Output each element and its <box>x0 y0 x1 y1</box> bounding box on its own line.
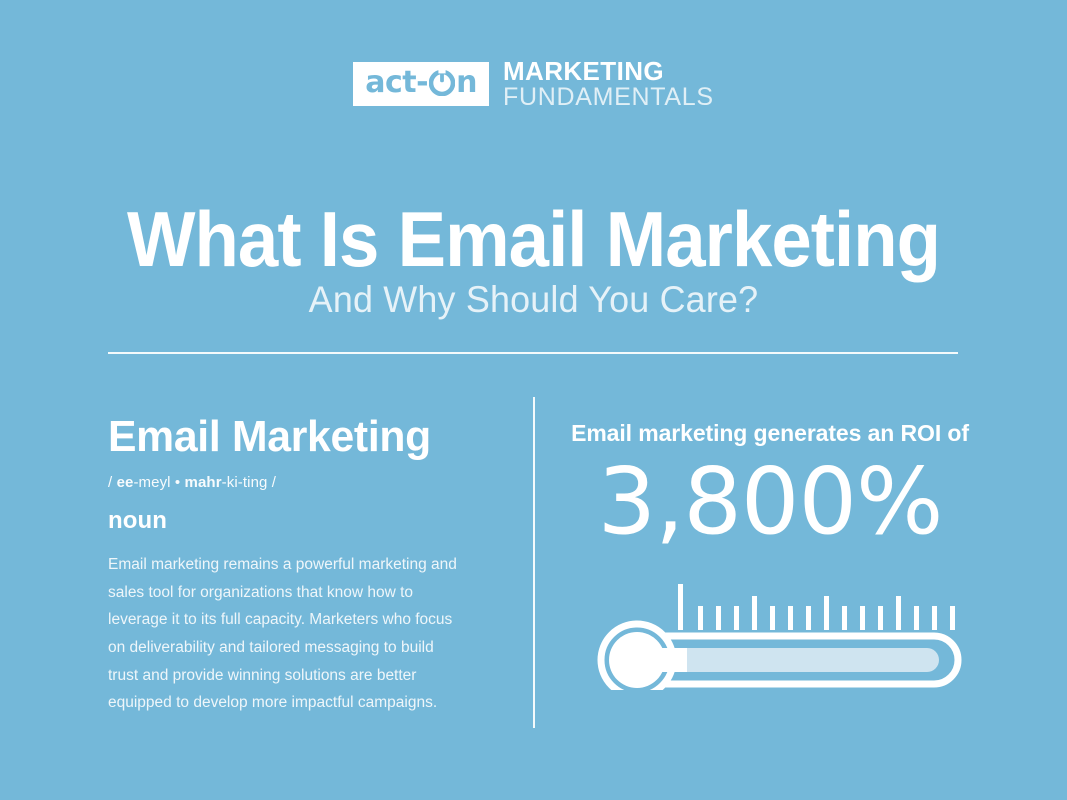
vertical-divider <box>533 397 535 728</box>
thermometer-icon <box>592 578 962 690</box>
tagline-secondary: FUNDAMENTALS <box>503 85 714 111</box>
brand-lockup: act-n MARKETING FUNDAMENTALS <box>0 58 1067 110</box>
pronunciation-rest-1: -meyl <box>133 474 170 491</box>
power-icon <box>429 70 455 96</box>
stat-label: Email marketing generates an ROI of <box>560 420 980 448</box>
brand-tagline: MARKETING FUNDAMENTALS <box>503 58 714 110</box>
gauge-bulb-neck <box>637 648 687 672</box>
pronunciation-open-slash: / <box>108 474 112 491</box>
pronunciation-stress-1: ee <box>117 474 134 491</box>
gauge-fill <box>644 648 939 672</box>
part-of-speech: noun <box>108 507 508 535</box>
definition-panel: Email Marketing / ee-meyl • mahr-ki-ting… <box>108 414 508 717</box>
logo-text-part2: n <box>456 68 477 98</box>
pronunciation-close-slash: / <box>272 474 276 491</box>
stat-value: 3,800% <box>560 454 980 551</box>
gauge-ticks <box>678 584 955 630</box>
horizontal-divider <box>108 352 958 354</box>
pronunciation-rest-2: -ki-ting <box>222 474 268 491</box>
logo-wordmark: act-n <box>365 68 477 98</box>
logo-text-part1: act- <box>365 68 428 98</box>
page-subtitle: And Why Should You Care? <box>16 281 1051 318</box>
definition-text: Email marketing remains a powerful marke… <box>108 551 463 716</box>
pronunciation-stress-2: mahr <box>185 474 222 491</box>
infographic-page: act-n MARKETING FUNDAMENTALS What Is Ema… <box>0 0 1067 800</box>
statistic-panel: Email marketing generates an ROI of 3,80… <box>560 420 980 550</box>
dictionary-term: Email Marketing <box>108 414 496 460</box>
act-on-logo: act-n <box>353 62 489 106</box>
tagline-primary: MARKETING <box>503 58 714 85</box>
page-title: What Is Email Marketing <box>37 200 1029 278</box>
pronunciation-guide: / ee-meyl • mahr-ki-ting / <box>108 474 508 491</box>
pronunciation-separator: • <box>175 474 180 491</box>
